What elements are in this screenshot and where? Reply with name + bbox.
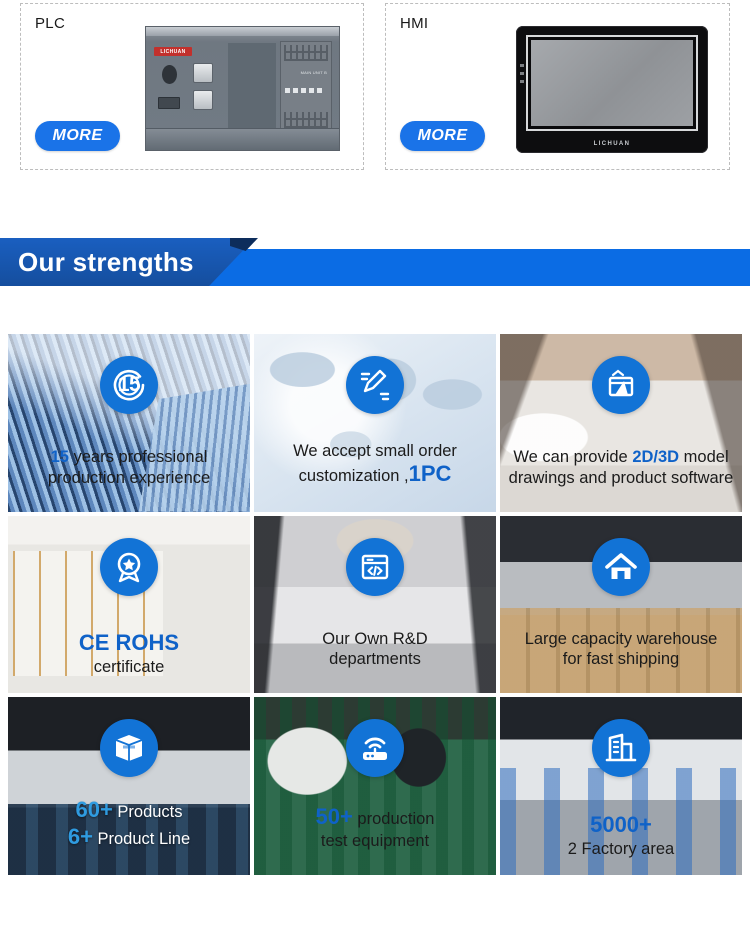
caption-line2: 2 Factory area — [504, 839, 738, 859]
caption-highlight: 50+ — [316, 804, 353, 829]
caption-line2: for fast shipping — [504, 649, 738, 669]
hmi-bezel — [526, 35, 698, 131]
product-title-hmi: HMI — [400, 15, 428, 32]
strength-cell-products[interactable]: 60+ Products 6+ Product Line — [8, 697, 250, 875]
caption-line2: Product Line — [93, 830, 190, 848]
plc-terminal-dots-top — [284, 45, 328, 61]
section-banner: Our strengths — [0, 238, 750, 286]
plc-usb-port — [158, 97, 180, 109]
strength-caption-customization: We accept small order customization ,1PC — [258, 441, 492, 488]
more-button-hmi[interactable]: MORE — [400, 121, 485, 151]
strength-caption-products: 60+ Products 6+ Product Line — [12, 797, 246, 851]
strengths-page: PLC LICHUAN MAIN UNIT B MORE — [0, 0, 750, 925]
strength-cell-certificate[interactable]: CE ROHS certificate — [8, 516, 250, 694]
caption-line1: Our Own R&D — [258, 629, 492, 649]
strength-cell-drawings[interactable]: We can provide 2D/3D model drawings and … — [500, 334, 742, 512]
caption-line2: departments — [258, 649, 492, 669]
strength-cell-test-equipment[interactable]: 50+ production test equipment — [254, 697, 496, 875]
strength-cell-rnd[interactable]: Our Own R&D departments — [254, 516, 496, 694]
plc-ethernet-port-2 — [193, 90, 213, 110]
hmi-device-image: LICHUAN — [516, 26, 708, 153]
caption-highlight: 2D/3D — [632, 448, 679, 466]
strength-caption-rnd: Our Own R&D departments — [258, 629, 492, 669]
caption-highlight: 15 — [51, 448, 69, 466]
hmi-status-leds — [520, 64, 524, 88]
product-card-hmi[interactable]: HMI LICHUAN MORE — [385, 3, 730, 170]
caption-line1: Products — [113, 803, 183, 821]
caption-line1: We accept small order — [258, 441, 492, 461]
caption-line2: test equipment — [258, 831, 492, 851]
strength-caption-drawings: We can provide 2D/3D model drawings and … — [504, 447, 738, 487]
plc-knob — [162, 65, 177, 84]
more-button-plc[interactable]: MORE — [35, 121, 120, 151]
product-title-plc: PLC — [35, 15, 65, 32]
caption-text: years professional — [69, 448, 208, 466]
plc-blank-panel — [228, 43, 276, 131]
pencil-customization-icon — [346, 356, 404, 414]
clock-15-icon: 15 — [100, 356, 158, 414]
plc-top-rail — [146, 27, 339, 36]
caption-highlight: 60+ — [75, 797, 112, 822]
strength-cell-customization[interactable]: We accept small order customization ,1PC — [254, 334, 496, 512]
caption-line1: Large capacity warehouse — [504, 629, 738, 649]
strength-caption-years: 15 years professional production experie… — [12, 447, 246, 487]
plc-status-leds — [285, 88, 322, 93]
caption-line2: drawings and product software — [504, 468, 738, 488]
strength-caption-test-equipment: 50+ production test equipment — [258, 804, 492, 851]
product-card-plc[interactable]: PLC LICHUAN MAIN UNIT B MORE — [20, 3, 364, 170]
strength-caption-warehouse: Large capacity warehouse for fast shippi… — [504, 629, 738, 669]
caption-line1-post: model — [679, 448, 729, 466]
strengths-grid: 15 15 years professional production expe… — [8, 334, 742, 875]
strength-cell-warehouse[interactable]: Large capacity warehouse for fast shippi… — [500, 516, 742, 694]
hmi-brand-logo: LICHUAN — [516, 141, 708, 147]
plc-panel-label: MAIN UNIT B — [301, 70, 327, 75]
caption-line2: customization , — [299, 467, 409, 485]
strength-cell-factory-area[interactable]: 5000+ 2 Factory area — [500, 697, 742, 875]
plc-terminal-block: MAIN UNIT B — [280, 41, 332, 133]
caption-line2: certificate — [12, 657, 246, 677]
caption-line1: We can provide — [513, 448, 632, 466]
box-package-icon — [100, 719, 158, 777]
hmi-screen — [531, 40, 693, 126]
award-medal-icon — [100, 538, 158, 596]
product-cards-row: PLC LICHUAN MAIN UNIT B MORE — [0, 0, 750, 180]
caption-highlight: 1PC — [409, 461, 452, 486]
strength-caption-factory-area: 5000+ 2 Factory area — [504, 812, 738, 859]
caption-highlight-2: 6+ — [68, 824, 93, 849]
strength-caption-certificate: CE ROHS certificate — [12, 630, 246, 677]
caption-highlight: CE ROHS — [79, 630, 179, 655]
plc-bottom-rail — [146, 128, 339, 150]
plc-brand-logo: LICHUAN — [154, 47, 192, 56]
plc-terminal-dots-bottom — [284, 112, 328, 128]
factory-building-icon — [592, 719, 650, 777]
home-warehouse-icon — [592, 538, 650, 596]
caption-highlight: 5000+ — [590, 812, 652, 837]
strength-cell-years[interactable]: 15 15 years professional production expe… — [8, 334, 250, 512]
badge-number-15: 15 — [118, 373, 140, 397]
caption-line1: production — [353, 810, 435, 828]
plc-ethernet-port-1 — [193, 63, 213, 83]
router-signal-icon — [346, 719, 404, 777]
section-title: Our strengths — [18, 238, 194, 286]
caption-line2: production experience — [12, 468, 246, 488]
code-window-icon — [346, 538, 404, 596]
cad-drawing-icon — [592, 356, 650, 414]
plc-device-image: LICHUAN MAIN UNIT B — [145, 26, 340, 151]
